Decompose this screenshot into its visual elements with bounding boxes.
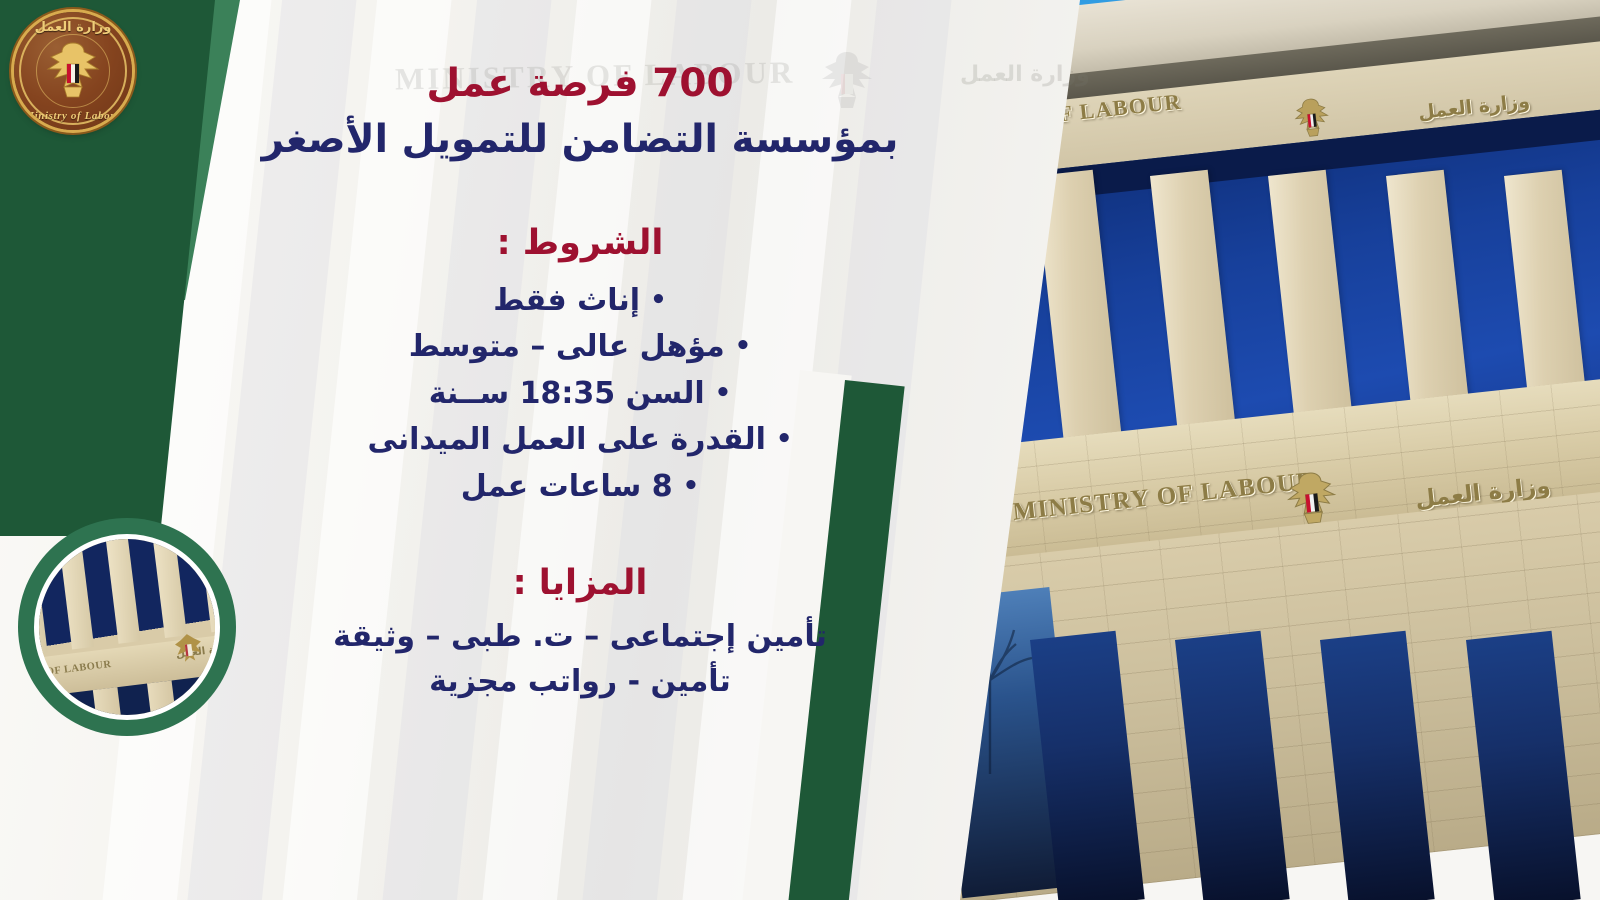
badge-pier-lower — [147, 680, 184, 720]
condition-item: •مؤهل عالى – متوسط — [230, 324, 930, 371]
watermark-arabic: وزارة العمل — [960, 62, 1090, 87]
benefits-title: المزايا : — [230, 562, 930, 604]
ministry-seal: وزارة العمل Ministry of Labour — [14, 12, 132, 130]
bullet-icon: • — [735, 333, 752, 359]
badge-eagle-emblem-icon — [172, 631, 205, 669]
job-announcement-poster: OF LABOUR وزارة العمل MINISTRY OF LABOUR — [0, 0, 1600, 900]
bullet-icon: • — [776, 426, 793, 452]
condition-label: القدرة على العمل الميدانى — [367, 422, 765, 457]
badge-sign-english: MINISTRY OF LABOUR — [34, 658, 112, 685]
conditions-title: الشروط : — [230, 222, 930, 264]
badge-pier — [152, 534, 187, 638]
badge-pier-lower — [93, 687, 130, 720]
headline: 700 فرصة عمل — [230, 62, 930, 107]
badge-pier — [106, 535, 141, 643]
condition-item: •السن 18:35 ســنة — [230, 371, 930, 418]
condition-label: إناث فقط — [493, 283, 640, 318]
bullet-icon: • — [715, 380, 732, 406]
seal-english-title: Ministry of Labour — [14, 110, 132, 122]
benefit-line: تأمين إجتماعى – ت. طبى – وثيقة — [230, 614, 930, 659]
conditions-list: •إناث فقط•مؤهل عالى – متوسط•السن 18:35 س… — [230, 278, 930, 511]
badge-pier-group: MINISTRY OF LABOUR وزارة العمل — [34, 534, 220, 720]
seal-arabic-title: وزارة العمل — [14, 20, 132, 35]
condition-label: مؤهل عالى – متوسط — [409, 329, 725, 364]
bullet-icon: • — [683, 473, 700, 499]
egyptian-eagle-emblem-upper-icon — [1290, 94, 1335, 146]
building-photo-badge: MINISTRY OF LABOUR وزارة العمل — [18, 518, 236, 736]
egyptian-eagle-seal-icon — [45, 40, 101, 102]
badge-pier — [59, 541, 94, 649]
condition-label: 8 ساعات عمل — [461, 469, 673, 504]
condition-item: •8 ساعات عمل — [230, 464, 930, 511]
benefit-line: تأمين - رواتب مجزية — [230, 659, 930, 704]
benefits-lines: تأمين إجتماعى – ت. طبى – وثيقةتأمين - رو… — [230, 614, 930, 704]
condition-label: السن 18:35 ســنة — [429, 376, 705, 411]
condition-item: •إناث فقط — [230, 278, 930, 325]
subheadline: بمؤسسة التضامن للتمويل الأصغر — [230, 117, 930, 164]
announcement-content: 700 فرصة عمل بمؤسسة التضامن للتمويل الأص… — [230, 0, 930, 900]
bullet-icon: • — [650, 287, 667, 313]
condition-item: •القدرة على العمل الميدانى — [230, 417, 930, 464]
badge-photo-frame: MINISTRY OF LABOUR وزارة العمل — [34, 534, 220, 720]
